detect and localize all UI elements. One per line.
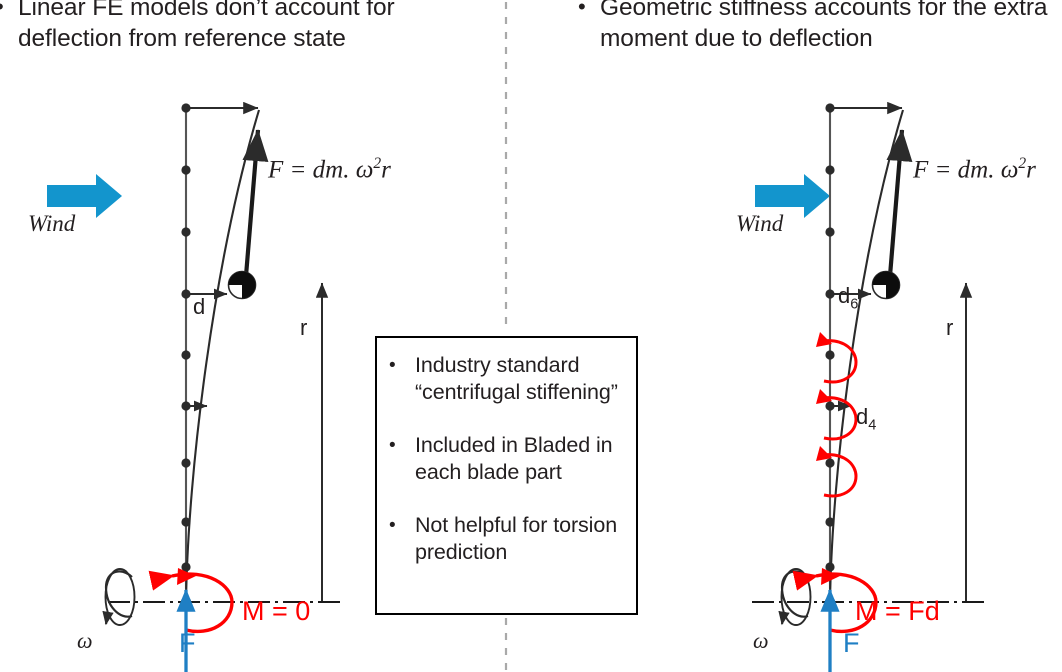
diagram-right <box>752 103 989 672</box>
radius-label-r: r <box>300 315 307 341</box>
header-bullet-right: • Geometric stiffness accounts for the e… <box>578 0 1058 54</box>
callout-item: • Not helpful for torsion prediction <box>389 512 626 566</box>
deflection-label-d4-base: d <box>856 404 868 429</box>
formula-base: F = dm. ω <box>913 156 1018 183</box>
callout-box: • Industry standard “centrifugal stiffen… <box>375 336 638 615</box>
centrifugal-formula-left: F = dm. ω2r <box>268 155 391 184</box>
omega-label-left: ω <box>77 628 93 654</box>
bullet-icon: • <box>389 352 415 379</box>
callout-item-text: Industry standard “centrifugal stiffenin… <box>415 352 626 406</box>
wind-label-left: Wind <box>28 211 75 237</box>
formula-exponent: 2 <box>1018 155 1026 172</box>
omega-rotation-icon <box>106 569 135 625</box>
wind-label-right: Wind <box>736 211 783 237</box>
formula-tail: r <box>381 156 391 183</box>
omega-rotation-icon-right <box>782 569 811 625</box>
bullet-icon: • <box>0 0 18 22</box>
header-bullet-left: • Linear FE models don’t account for def… <box>0 0 466 54</box>
bullet-icon: • <box>389 512 415 539</box>
bullet-icon: • <box>389 432 415 459</box>
point-mass-symbol-right <box>873 272 900 299</box>
diagram-left <box>47 103 345 672</box>
callout-item: • Industry standard “centrifugal stiffen… <box>389 352 626 406</box>
deflection-label-d4: d4 <box>856 404 876 433</box>
callout-item: • Included in Bladed in each blade part <box>389 432 626 486</box>
slide-canvas: • Linear FE models don’t account for def… <box>0 0 1062 672</box>
moment-value-right: M = Fd <box>855 596 940 627</box>
callout-item-text: Included in Bladed in each blade part <box>415 432 626 486</box>
point-mass-symbol <box>229 272 256 299</box>
deformed-blade-curve <box>186 110 259 602</box>
deflection-label-d6-base: d <box>838 283 850 308</box>
deflection-label-d4-sub: 4 <box>868 417 876 433</box>
radius-label-r-right: r <box>946 315 953 341</box>
deflection-label-d6-sub: 6 <box>850 296 858 312</box>
deformed-blade-curve-right <box>830 110 903 602</box>
deflection-label-d: d <box>193 294 205 320</box>
callout-item-text: Not helpful for torsion prediction <box>415 512 626 566</box>
centrifugal-formula-right: F = dm. ω2r <box>913 155 1036 184</box>
moment-value-left: M = 0 <box>242 596 310 627</box>
formula-tail: r <box>1026 156 1036 183</box>
header-left-text: Linear FE models don’t account for defle… <box>18 0 466 54</box>
force-label-left: F <box>179 628 196 659</box>
formula-base: F = dm. ω <box>268 156 373 183</box>
formula-exponent: 2 <box>373 155 381 172</box>
force-label-right: F <box>843 628 860 659</box>
header-right-text: Geometric stiffness accounts for the ext… <box>600 0 1058 54</box>
bullet-icon: • <box>578 0 600 22</box>
deflection-label-d6: d6 <box>838 283 858 312</box>
omega-label-right: ω <box>753 628 769 654</box>
